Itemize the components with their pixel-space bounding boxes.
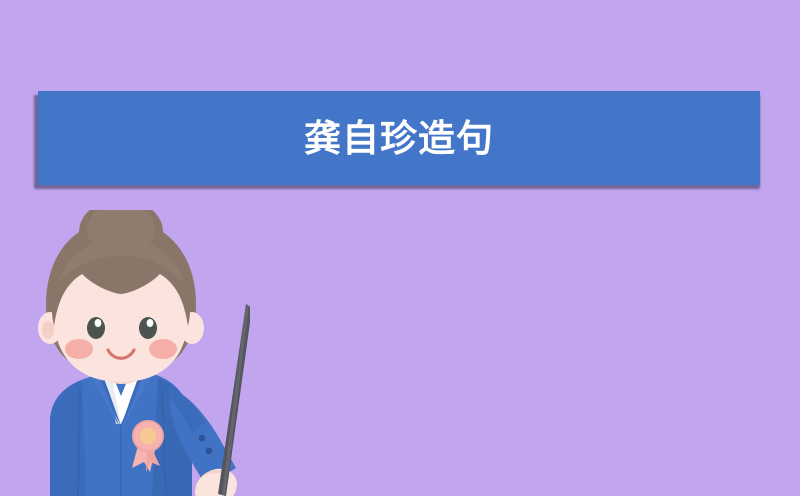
teacher-illustration xyxy=(20,210,250,496)
title-banner: 龚自珍造句 xyxy=(38,91,760,185)
page-root: 龚自珍造句 xyxy=(0,0,800,496)
sleeve-button xyxy=(206,448,213,455)
ribbon-badge xyxy=(132,421,163,472)
page-title: 龚自珍造句 xyxy=(304,120,494,157)
sleeve-button xyxy=(199,435,206,442)
